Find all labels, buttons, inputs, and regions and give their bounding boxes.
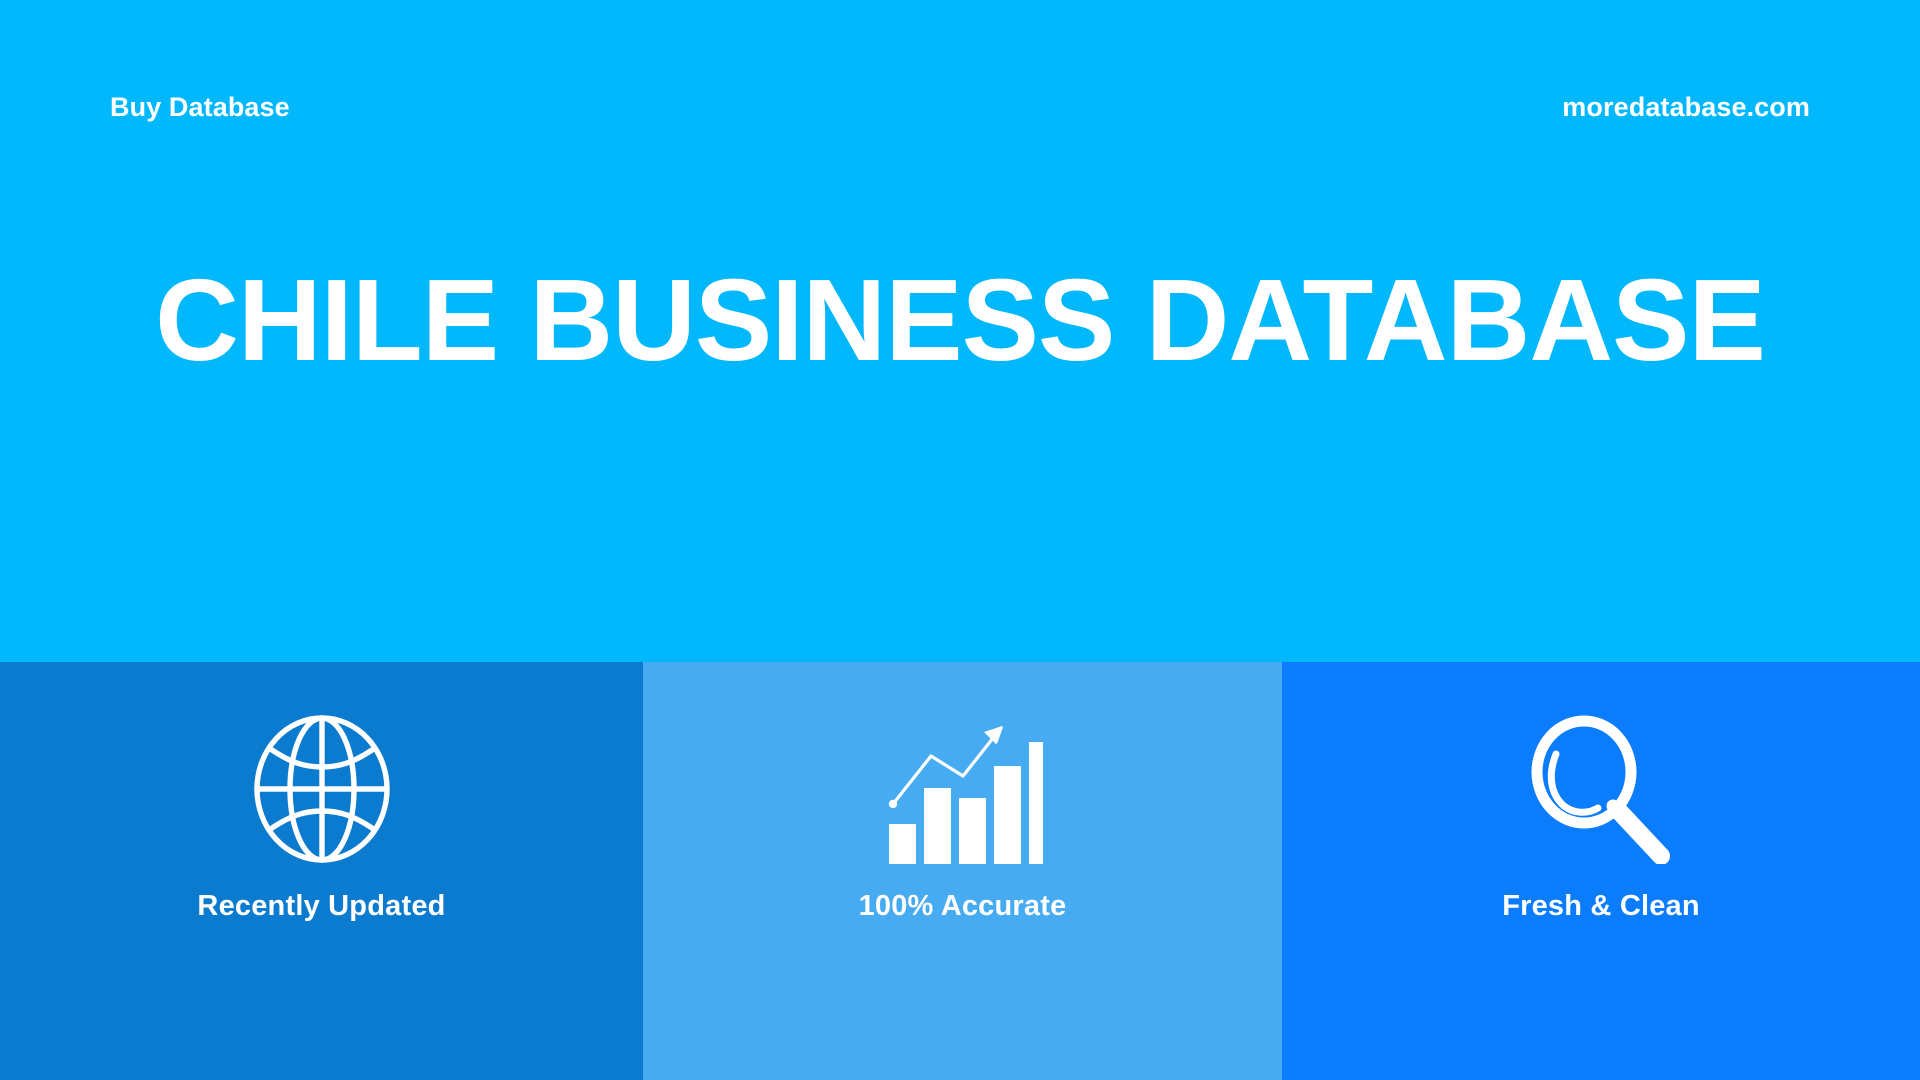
feature-label-accurate: 100% Accurate bbox=[859, 890, 1067, 923]
growth-chart-icon bbox=[883, 714, 1043, 864]
hero-title-container: CHILE BUSINESS DATABASE bbox=[0, 0, 1920, 662]
feature-panel-accurate: 100% Accurate bbox=[643, 662, 1282, 1080]
feature-panel-recently-updated: Recently Updated bbox=[0, 662, 643, 1080]
feature-panels: Recently Updated bbox=[0, 662, 1920, 1080]
promo-banner: Buy Database moredatabase.com CHILE BUSI… bbox=[0, 0, 1920, 1080]
page-title: CHILE BUSINESS DATABASE bbox=[155, 260, 1765, 382]
hero-section: Buy Database moredatabase.com CHILE BUSI… bbox=[0, 0, 1920, 662]
feature-panel-fresh-clean: Fresh & Clean bbox=[1282, 662, 1920, 1080]
magnifier-icon bbox=[1526, 714, 1676, 864]
feature-label-recently-updated: Recently Updated bbox=[197, 890, 445, 923]
feature-label-fresh-clean: Fresh & Clean bbox=[1502, 890, 1700, 923]
globe-icon bbox=[252, 714, 392, 864]
